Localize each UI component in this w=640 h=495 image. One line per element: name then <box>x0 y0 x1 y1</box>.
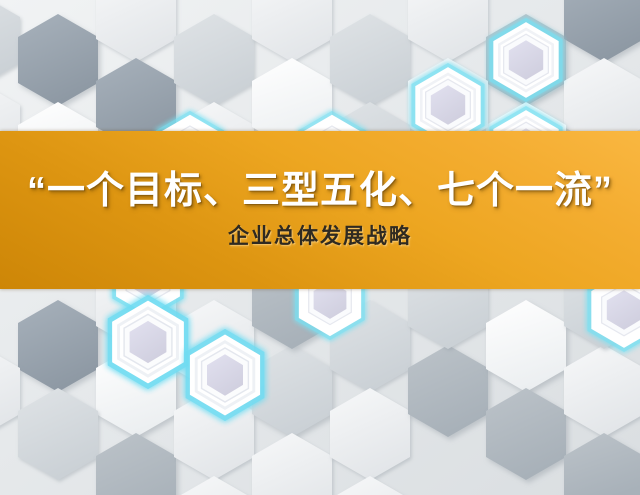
slide-subtitle: 企业总体发展战略 <box>228 224 412 249</box>
title-slide: “一个目标、三型五化、七个一流” 企业总体发展战略 <box>0 0 640 495</box>
glow-hex-bottom-b <box>110 298 185 386</box>
title-band-content: “一个目标、三型五化、七个一流” 企业总体发展战略 <box>0 131 640 289</box>
slide-title: “一个目标、三型五化、七个一流” <box>27 171 613 213</box>
title-band: “一个目标、三型五化、七个一流” 企业总体发展战略 <box>0 131 640 289</box>
glow-hex-bottom-c <box>188 332 262 418</box>
glow-hex-top-a <box>492 20 561 99</box>
